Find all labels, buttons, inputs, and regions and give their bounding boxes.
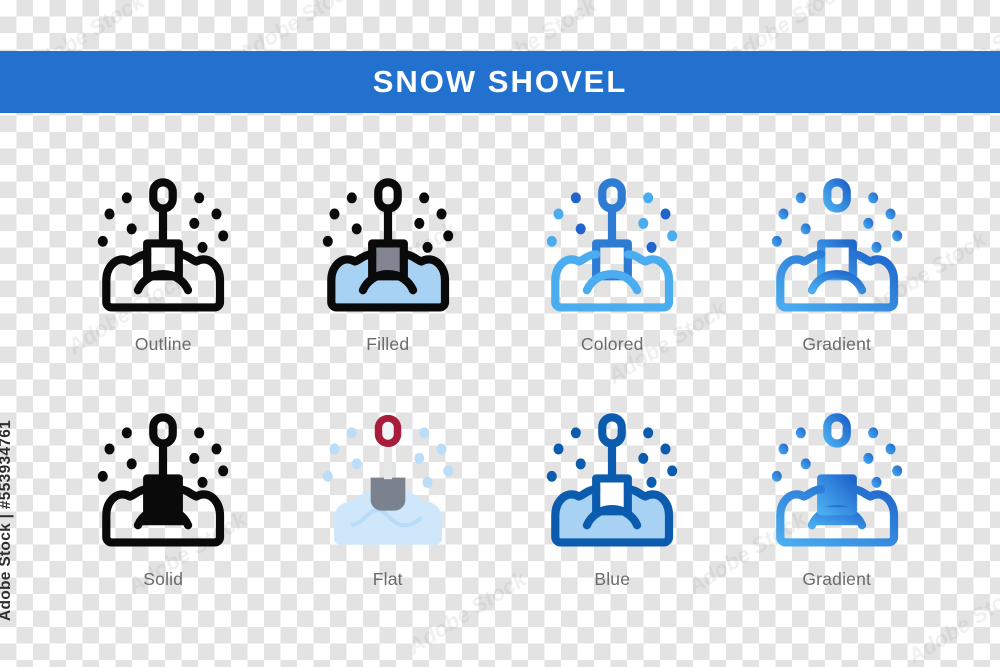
icon-label: Gradient (802, 334, 871, 355)
snow-shovel-icon-colored[interactable] (532, 168, 692, 328)
snow-shovel-icon-blue[interactable] (532, 403, 692, 563)
icon-cell-flat[interactable]: Flat (276, 395, 501, 630)
icon-label: Blue (594, 569, 630, 590)
icon-label: Flat (373, 569, 403, 590)
icon-label: Gradient (802, 569, 871, 590)
image-canvas: Adobe Stock Adobe Stock Adobe Stock Adob… (0, 0, 1000, 667)
icon-cell-gradient-top[interactable]: Gradient (725, 160, 950, 395)
icon-cell-colored[interactable]: Colored (500, 160, 725, 395)
icon-cell-solid[interactable]: Solid (51, 395, 276, 630)
snow-shovel-icon-gradient-solid[interactable] (757, 403, 917, 563)
stock-credit-text: Adobe Stock | #553934761 (0, 420, 15, 621)
icon-cell-gradient-bottom[interactable]: Gradient (725, 395, 950, 630)
icon-label: Colored (581, 334, 644, 355)
title-banner: SNOW SHOVEL (0, 51, 1000, 113)
stock-credit: Adobe Stock | #553934761 (0, 0, 46, 667)
snow-shovel-icon-flat[interactable] (308, 403, 468, 563)
snow-shovel-icon-outline[interactable] (83, 168, 243, 328)
snow-shovel-icon-solid[interactable] (83, 403, 243, 563)
icon-cell-blue[interactable]: Blue (500, 395, 725, 630)
icon-label: Filled (366, 334, 409, 355)
snow-shovel-icon-gradient[interactable] (757, 168, 917, 328)
icon-label: Outline (135, 334, 192, 355)
icon-grid: Outline (51, 160, 949, 630)
icon-label: Solid (143, 569, 183, 590)
icon-cell-outline[interactable]: Outline (51, 160, 276, 395)
icon-cell-filled[interactable]: Filled (276, 160, 501, 395)
snow-shovel-icon-filled[interactable] (308, 168, 468, 328)
page-title: SNOW SHOVEL (373, 64, 628, 100)
